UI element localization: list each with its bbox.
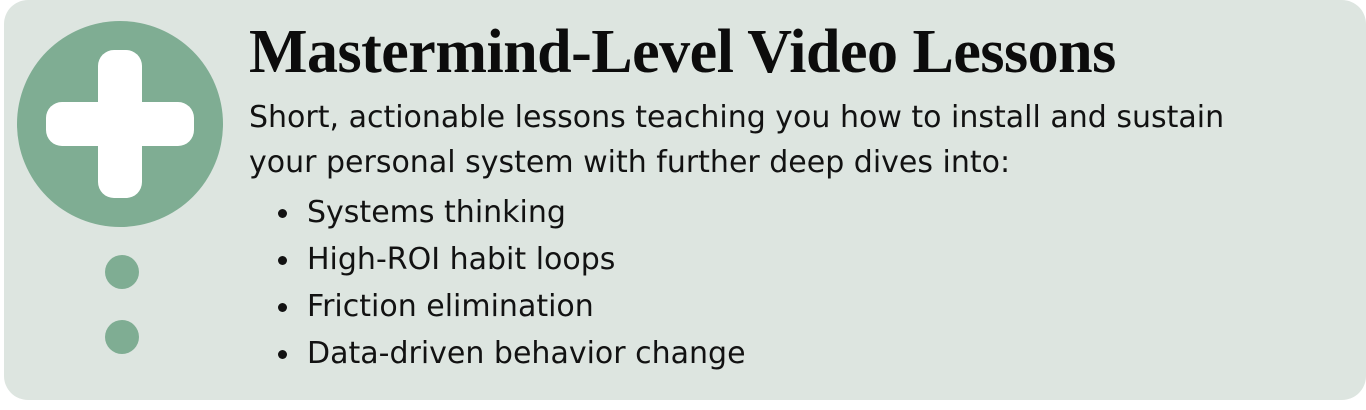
feature-card: Mastermind-Level Video Lessons Short, ac… [4, 0, 1366, 400]
list-item: Data-driven behavior change [249, 330, 1336, 377]
list-item-label: Friction elimination [307, 289, 594, 324]
bullet-icon [278, 209, 287, 218]
list-item-label: High-ROI habit loops [307, 242, 615, 277]
card-description: Short, actionable lessons teaching you h… [249, 95, 1249, 185]
list-item: Systems thinking [249, 189, 1336, 236]
list-item-label: Data-driven behavior change [307, 336, 746, 371]
list-item: Friction elimination [249, 283, 1336, 330]
card-title: Mastermind-Level Video Lessons [249, 14, 1336, 90]
icon-column [13, 21, 229, 381]
plus-vertical-bar [98, 50, 142, 198]
bullet-icon [278, 256, 287, 265]
list-item: High-ROI habit loops [249, 236, 1336, 283]
bullet-icon [278, 350, 287, 359]
text-column: Mastermind-Level Video Lessons Short, ac… [249, 14, 1336, 377]
list-item-label: Systems thinking [307, 195, 566, 230]
plus-circle-icon [17, 21, 223, 227]
bullet-icon [278, 303, 287, 312]
benefit-list: Systems thinking High-ROI habit loops Fr… [249, 189, 1336, 377]
progress-dot-icon [105, 255, 139, 289]
progress-dot-icon [105, 320, 139, 354]
